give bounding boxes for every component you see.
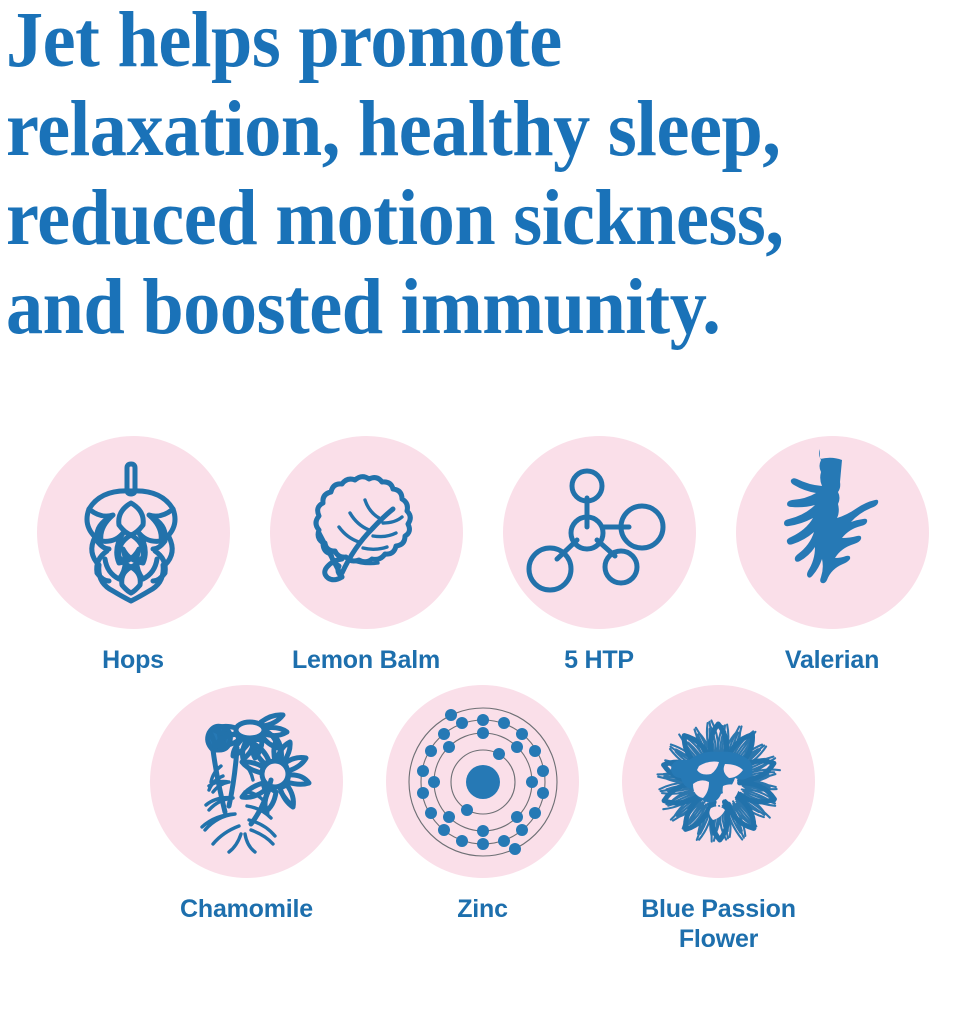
ingredient-zinc[interactable]: Zinc	[386, 685, 579, 924]
ingredient-label: Valerian	[785, 645, 879, 675]
ingredient-label: Chamomile	[180, 894, 313, 924]
ingredient-label: Blue Passion Flower	[629, 894, 809, 954]
ingredient-row-1: Hops	[0, 436, 965, 675]
ingredient-valerian[interactable]: Valerian	[736, 436, 929, 675]
ingredient-blue-passion-flower[interactable]: Blue Passion Flower	[622, 685, 815, 954]
leaf-icon	[293, 460, 439, 606]
ingredient-bubble	[150, 685, 343, 878]
root-icon	[766, 457, 898, 609]
ingredient-label: Lemon Balm	[292, 645, 440, 675]
ingredient-bubble	[270, 436, 463, 629]
ingredient-label: Zinc	[457, 894, 508, 924]
ingredient-bubble	[386, 685, 579, 878]
ingredient-chamomile[interactable]: Chamomile	[150, 685, 343, 924]
hops-cone-icon	[63, 458, 203, 608]
molecule-icon	[529, 466, 669, 600]
ingredient-5-htp[interactable]: 5 HTP	[503, 436, 696, 675]
ingredient-lemon-balm[interactable]: Lemon Balm	[270, 436, 463, 675]
ingredient-bubble	[503, 436, 696, 629]
ingredient-row-2: Chamomile	[0, 685, 965, 954]
ingredient-label: Hops	[102, 645, 164, 675]
ingredient-bubble	[736, 436, 929, 629]
atom-bohr-model-icon	[403, 702, 563, 862]
chamomile-flower-icon	[177, 706, 317, 858]
page-headline: Jet helps promote relaxation, healthy sl…	[6, 0, 899, 352]
ingredient-bubble	[37, 436, 230, 629]
ingredient-bubble	[622, 685, 815, 878]
ingredient-hops[interactable]: Hops	[37, 436, 230, 675]
passion-flower-icon	[642, 705, 796, 859]
ingredient-label: 5 HTP	[564, 645, 634, 675]
ingredient-grid: Hops	[0, 436, 965, 954]
